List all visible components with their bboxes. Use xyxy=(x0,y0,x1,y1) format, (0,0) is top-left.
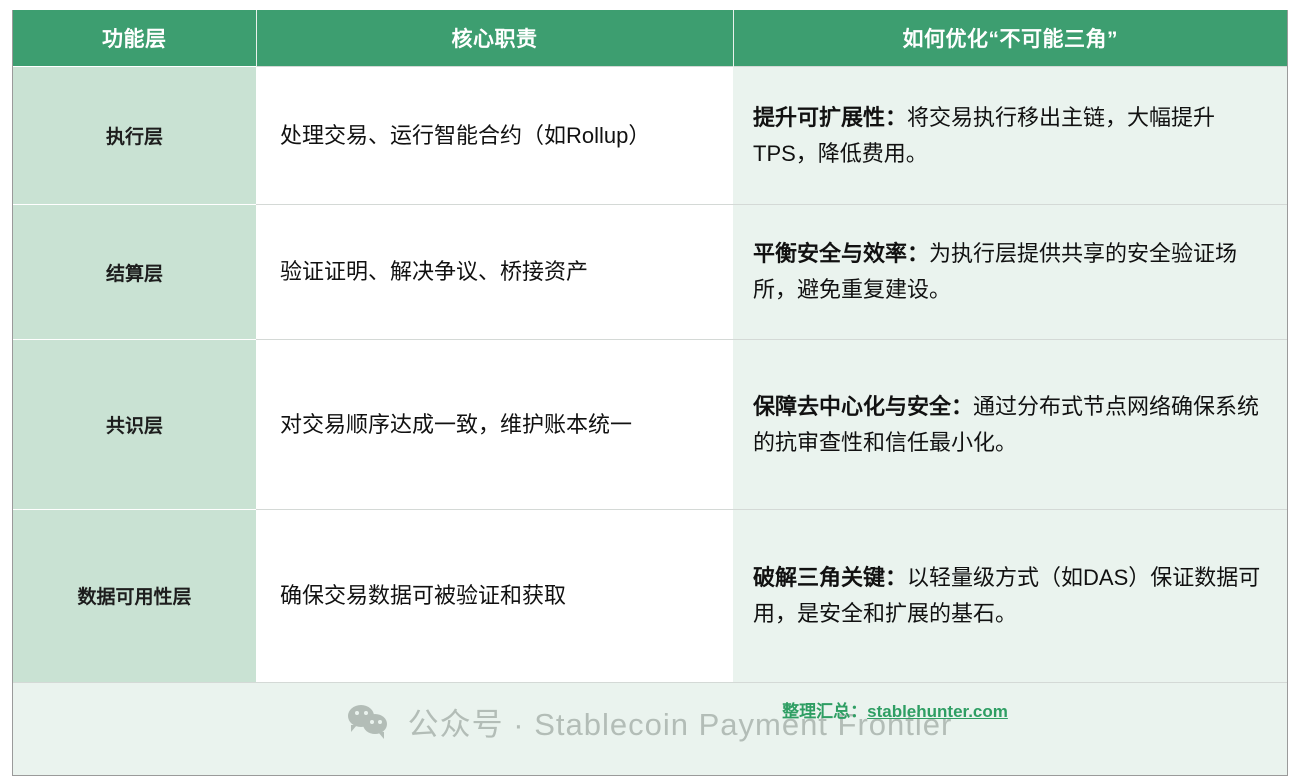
cell-layer-name: 结算层 xyxy=(13,205,256,340)
table-header-row: 功能层 核心职责 如何优化“不可能三角” xyxy=(13,10,1287,67)
table-body: 执行层 处理交易、运行智能合约（如Rollup） 提升可扩展性：将交易执行移出主… xyxy=(13,67,1287,682)
cell-core-duty: 处理交易、运行智能合约（如Rollup） xyxy=(256,67,733,205)
table-row: 共识层 对交易顺序达成一致，维护账本统一 保障去中心化与安全：通过分布式节点网络… xyxy=(13,340,1287,510)
cell-optimization: 提升可扩展性：将交易执行移出主链，大幅提升TPS，降低费用。 xyxy=(733,67,1287,205)
column-header-layer: 功能层 xyxy=(13,10,256,67)
table-page: 功能层 核心职责 如何优化“不可能三角” 执行层 处理交易、运行智能合约（如Ro… xyxy=(0,0,1300,780)
cell-optimization: 保障去中心化与安全：通过分布式节点网络确保系统的抗审查性和信任最小化。 xyxy=(733,340,1287,510)
optimization-lead: 提升可扩展性： xyxy=(753,105,907,130)
table-row: 执行层 处理交易、运行智能合约（如Rollup） 提升可扩展性：将交易执行移出主… xyxy=(13,67,1287,205)
watermark-text: 公众号 · Stablecoin Payment Frontier xyxy=(408,699,953,744)
wechat-icon xyxy=(348,704,392,738)
cell-layer-name: 共识层 xyxy=(13,340,256,510)
optimization-lead: 平衡安全与效率： xyxy=(753,241,929,266)
column-header-optimize: 如何优化“不可能三角” xyxy=(733,10,1287,67)
table-header: 功能层 核心职责 如何优化“不可能三角” xyxy=(13,10,1287,67)
source-credit: 整理汇总：stablehunter.com xyxy=(782,697,1008,722)
modular-layers-table: 功能层 核心职责 如何优化“不可能三角” 执行层 处理交易、运行智能合约（如Ro… xyxy=(13,10,1287,682)
source-credit-prefix: 整理汇总： xyxy=(782,702,867,721)
cell-layer-name: 执行层 xyxy=(13,67,256,205)
layers-table-container: 功能层 核心职责 如何优化“不可能三角” 执行层 处理交易、运行智能合约（如Ro… xyxy=(12,10,1288,776)
optimization-lead: 保障去中心化与安全： xyxy=(753,394,973,419)
table-row: 结算层 验证证明、解决争议、桥接资产 平衡安全与效率：为执行层提供共享的安全验证… xyxy=(13,205,1287,340)
cell-layer-name: 数据可用性层 xyxy=(13,510,256,682)
cell-optimization: 平衡安全与效率：为执行层提供共享的安全验证场所，避免重复建设。 xyxy=(733,205,1287,340)
cell-core-duty: 验证证明、解决争议、桥接资产 xyxy=(256,205,733,340)
column-header-duty: 核心职责 xyxy=(256,10,733,67)
optimization-lead: 破解三角关键： xyxy=(753,565,907,590)
table-row: 数据可用性层 确保交易数据可被验证和获取 破解三角关键：以轻量级方式（如DAS）… xyxy=(13,510,1287,682)
footer-watermark-band: 公众号 · Stablecoin Payment Frontier 整理汇总：s… xyxy=(13,682,1287,775)
cell-core-duty: 确保交易数据可被验证和获取 xyxy=(256,510,733,682)
cell-core-duty: 对交易顺序达成一致，维护账本统一 xyxy=(256,340,733,510)
watermark: 公众号 · Stablecoin Payment Frontier xyxy=(13,699,1287,744)
source-credit-url: stablehunter.com xyxy=(867,702,1008,721)
cell-optimization: 破解三角关键：以轻量级方式（如DAS）保证数据可用，是安全和扩展的基石。 xyxy=(733,510,1287,682)
